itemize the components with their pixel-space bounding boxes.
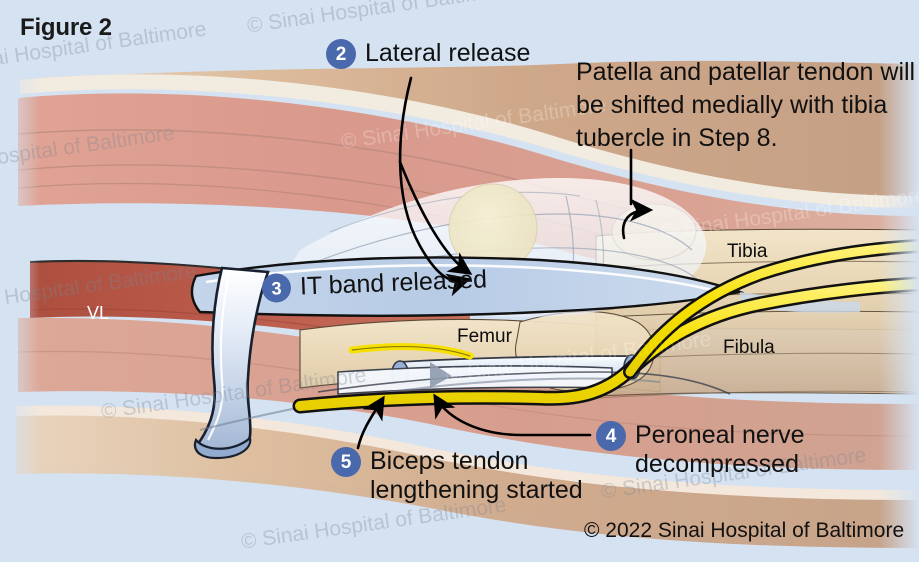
label-tibia: Tibia bbox=[727, 241, 767, 263]
callout-label-lateral-release: Lateral release bbox=[365, 39, 530, 68]
callout-peroneal-nerve: 4 Peroneal nerve decompressed bbox=[596, 421, 805, 480]
callout-lateral-release: 2 Lateral release bbox=[326, 39, 530, 69]
callout-label-peroneal-nerve: Peroneal nerve decompressed bbox=[635, 421, 805, 480]
label-femur: Femur bbox=[457, 326, 512, 348]
label-vastus-lateralis: VL bbox=[87, 303, 109, 324]
step-badge-5: 5 bbox=[331, 447, 361, 477]
step-badge-3: 3 bbox=[261, 273, 291, 303]
callout-label-biceps-tendon: Biceps tendon lengthening started bbox=[370, 447, 583, 506]
figure-canvas: © Sinai Hospital of Baltimore© Sinai Hos… bbox=[0, 0, 919, 562]
label-fibula: Fibula bbox=[723, 337, 775, 359]
step-badge-2: 2 bbox=[326, 39, 356, 69]
callout-biceps-tendon: 5 Biceps tendon lengthening started bbox=[331, 447, 583, 506]
step-badge-4: 4 bbox=[596, 421, 626, 451]
page-title: Figure 2 bbox=[20, 14, 112, 42]
note-patella-shift: Patella and patellar tendon will be shif… bbox=[576, 56, 919, 155]
copyright-notice: © 2022 Sinai Hospital of Baltimore bbox=[584, 519, 904, 543]
